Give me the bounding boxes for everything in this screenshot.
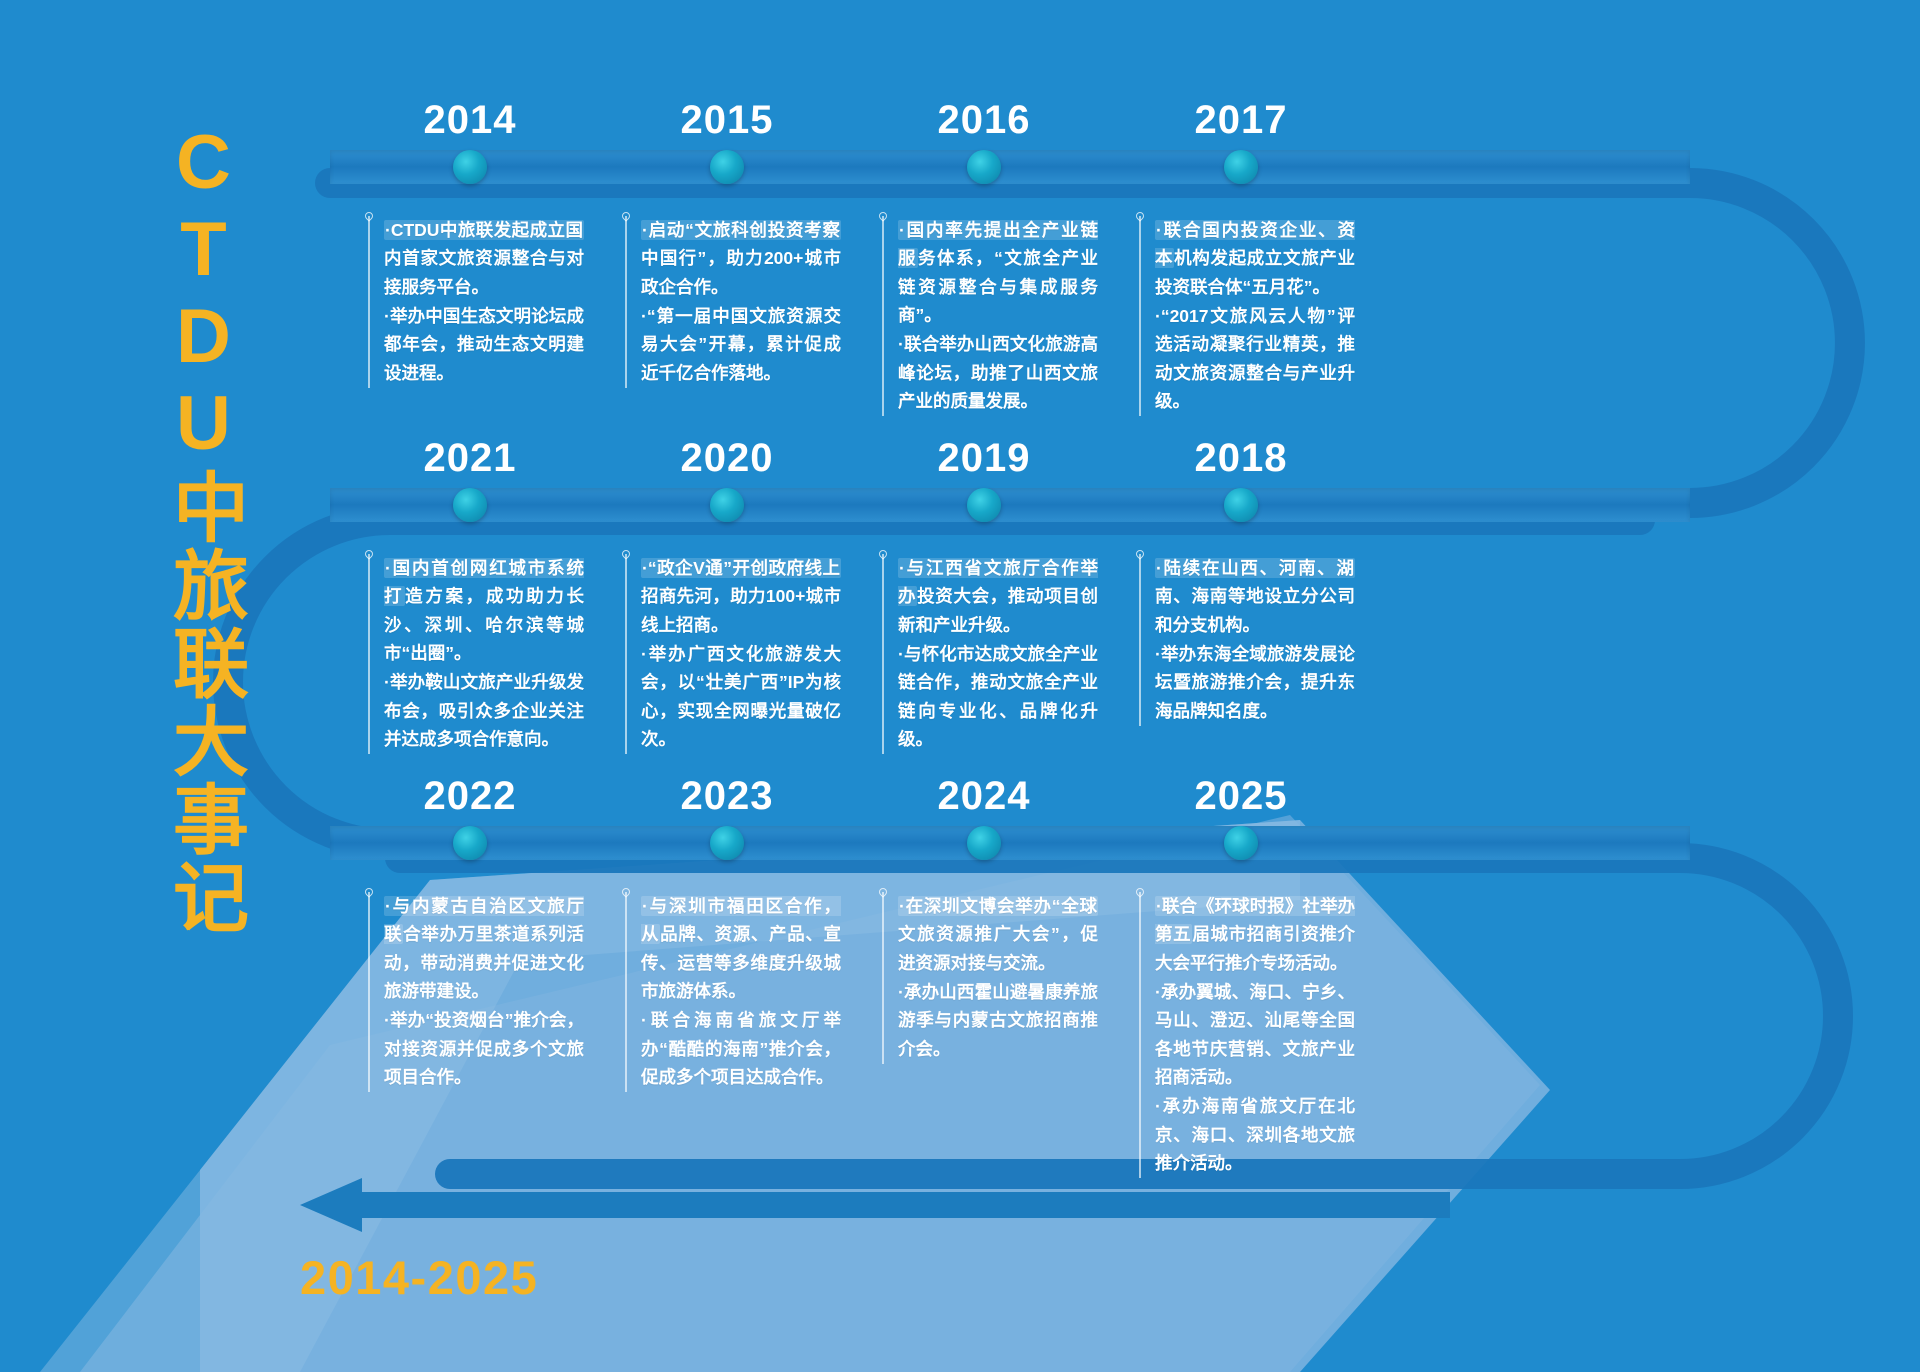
timeline-dot-icon[interactable] xyxy=(453,150,487,184)
bullet-item: ·承办山西霍山避暑康养旅游季与内蒙古文旅招商推介会。 xyxy=(898,978,1098,1063)
event-card: ·联合《环球时报》社举办第五届城市招商引资推介大会平行推介专场活动。 ·承办翼城… xyxy=(1139,892,1355,1178)
map-pin-icon xyxy=(621,212,631,225)
event-bullets: ·在深圳文博会举办“全球文旅资源推广大会”，促进资源对接与交流。 ·承办山西霍山… xyxy=(898,892,1098,1063)
bullet-item: ·国内率先提出全产业链服务体系，“文旅全产业链资源整合与集成服务商”。 xyxy=(898,216,1098,329)
event-bullets: ·与内蒙古自治区文旅厅联合举办万里茶道系列活动，带动消费并促进文化旅游带建设。 … xyxy=(384,892,584,1091)
map-pin-icon xyxy=(364,888,374,901)
bullet-item: ·与内蒙古自治区文旅厅联合举办万里茶道系列活动，带动消费并促进文化旅游带建设。 xyxy=(384,892,584,1005)
event-bullets: ·联合《环球时报》社举办第五届城市招商引资推介大会平行推介专场活动。 ·承办翼城… xyxy=(1155,892,1355,1177)
infographic-canvas: CTDU中旅联大事记 2014 ·CTDU中旅联发起成立国内首家文旅资源整合与对… xyxy=(0,0,1920,1372)
map-pin-icon xyxy=(1135,888,1145,901)
bullet-item: ·CTDU中旅联发起成立国内首家文旅资源整合与对接服务平台。 xyxy=(384,216,584,301)
bullet-item: ·举办中国生态文明论坛成都年会，推动生态文明建设进程。 xyxy=(384,302,584,387)
event-bullets: ·与江西省文旅厅合作举办投资大会，推动项目创新和产业升级。 ·与怀化市达成文旅全… xyxy=(898,554,1098,753)
map-pin-icon xyxy=(621,550,631,563)
bullet-item: ·举办鞍山文旅产业升级发布会，吸引众多企业关注并达成多项合作意向。 xyxy=(384,668,584,753)
event-bullets: ·启动“文旅科创投资考察中国行”，助力200+城市政企合作。 ·“第一届中国文旅… xyxy=(641,216,841,387)
year-label: 2019 xyxy=(894,436,1074,481)
timeline-dot-icon[interactable] xyxy=(1224,150,1258,184)
timeline-dot-icon[interactable] xyxy=(710,826,744,860)
year-label: 2021 xyxy=(380,436,560,481)
timeline-track xyxy=(330,150,1690,184)
bullet-item: ·与江西省文旅厅合作举办投资大会，推动项目创新和产业升级。 xyxy=(898,554,1098,639)
bullet-item: ·举办广西文化旅游发大会，以“壮美广西”IP为核心，实现全网曝光量破亿次。 xyxy=(641,640,841,753)
event-card: ·国内率先提出全产业链服务体系，“文旅全产业链资源整合与集成服务商”。 ·联合举… xyxy=(882,216,1098,416)
arrow-shaft xyxy=(360,1192,1450,1218)
event-card: ·在深圳文博会举办“全球文旅资源推广大会”，促进资源对接与交流。 ·承办山西霍山… xyxy=(882,892,1098,1064)
bullet-item: ·举办东海全域旅游发展论坛暨旅游推介会，提升东海品牌知名度。 xyxy=(1155,640,1355,725)
map-pin-icon xyxy=(878,212,888,225)
year-label: 2023 xyxy=(637,774,817,819)
bullet-item: ·联合海南省旅文厅举办“酷酷的海南”推介会，促成多个项目达成合作。 xyxy=(641,1006,841,1091)
timeline-dot-icon[interactable] xyxy=(967,150,1001,184)
bullet-item: ·在深圳文博会举办“全球文旅资源推广大会”，促进资源对接与交流。 xyxy=(898,892,1098,977)
arrow-head xyxy=(300,1178,362,1232)
bullet-item: ·与怀化市达成文旅全产业链合作，推动文旅全产业链向专业化、品牌化升级。 xyxy=(898,640,1098,753)
year-label: 2016 xyxy=(894,98,1074,143)
bullet-item: ·“2017文旅风云人物”评选活动凝聚行业精英，推动文旅资源整合与产业升级。 xyxy=(1155,302,1355,415)
year-label: 2014 xyxy=(380,98,560,143)
year-label: 2022 xyxy=(380,774,560,819)
bullet-item: ·联合举办山西文化旅游高峰论坛，助推了山西文旅产业的质量发展。 xyxy=(898,330,1098,415)
event-bullets: ·CTDU中旅联发起成立国内首家文旅资源整合与对接服务平台。 ·举办中国生态文明… xyxy=(384,216,584,387)
event-card: ·CTDU中旅联发起成立国内首家文旅资源整合与对接服务平台。 ·举办中国生态文明… xyxy=(368,216,584,388)
timeline-dot-icon[interactable] xyxy=(1224,488,1258,522)
timeline-dot-icon[interactable] xyxy=(967,826,1001,860)
event-bullets: ·陆续在山西、河南、湖南、海南等地设立分公司和分支机构。 ·举办东海全域旅游发展… xyxy=(1155,554,1355,725)
year-label: 2017 xyxy=(1151,98,1331,143)
year-label: 2015 xyxy=(637,98,817,143)
bullet-item: ·承办翼城、海口、宁乡、马山、澄迈、汕尾等全国各地节庆营销、文旅产业招商活动。 xyxy=(1155,978,1355,1091)
event-bullets: ·国内首创网红城市系统打造方案，成功助力长沙、深圳、哈尔滨等城市“出圈”。 ·举… xyxy=(384,554,584,753)
map-pin-icon xyxy=(878,888,888,901)
bullet-item: ·国内首创网红城市系统打造方案，成功助力长沙、深圳、哈尔滨等城市“出圈”。 xyxy=(384,554,584,667)
timeline-dot-icon[interactable] xyxy=(453,826,487,860)
event-card: ·与内蒙古自治区文旅厅联合举办万里茶道系列活动，带动消费并促进文化旅游带建设。 … xyxy=(368,892,584,1092)
map-pin-icon xyxy=(1135,550,1145,563)
pipe-row3-visible xyxy=(400,858,1838,1174)
timeline-dot-icon[interactable] xyxy=(967,488,1001,522)
timeline-track xyxy=(330,826,1690,860)
map-pin-icon xyxy=(878,550,888,563)
timeline-track xyxy=(330,488,1690,522)
event-card: ·“政企V通”开创政府线上招商先河，助力100+城市线上招商。 ·举办广西文化旅… xyxy=(625,554,841,754)
event-bullets: ·国内率先提出全产业链服务体系，“文旅全产业链资源整合与集成服务商”。 ·联合举… xyxy=(898,216,1098,415)
year-label: 2020 xyxy=(637,436,817,481)
bullet-item: ·联合国内投资企业、资本机构发起成立文旅产业投资联合体“五月花”。 xyxy=(1155,216,1355,301)
timeline-dot-icon[interactable] xyxy=(453,488,487,522)
event-bullets: ·与深圳市福田区合作，从品牌、资源、产品、宣传、运营等多维度升级城市旅游体系。 … xyxy=(641,892,841,1091)
year-label: 2025 xyxy=(1151,774,1331,819)
event-card: ·与江西省文旅厅合作举办投资大会，推动项目创新和产业升级。 ·与怀化市达成文旅全… xyxy=(882,554,1098,754)
map-pin-icon xyxy=(621,888,631,901)
timeline-dot-icon[interactable] xyxy=(1224,826,1258,860)
map-pin-icon xyxy=(1135,212,1145,225)
page-title-text: CTDU中旅联大事记 xyxy=(161,120,246,936)
year-range-label: 2014-2025 xyxy=(300,1250,538,1305)
bullet-item: ·“政企V通”开创政府线上招商先河，助力100+城市线上招商。 xyxy=(641,554,841,639)
event-bullets: ·“政企V通”开创政府线上招商先河，助力100+城市线上招商。 ·举办广西文化旅… xyxy=(641,554,841,753)
page-title: CTDU中旅联大事记 xyxy=(150,120,242,936)
map-pin-icon xyxy=(364,550,374,563)
event-bullets: ·联合国内投资企业、资本机构发起成立文旅产业投资联合体“五月花”。 ·“2017… xyxy=(1155,216,1355,415)
bullet-item: ·与深圳市福田区合作，从品牌、资源、产品、宣传、运营等多维度升级城市旅游体系。 xyxy=(641,892,841,1005)
event-card: ·与深圳市福田区合作，从品牌、资源、产品、宣传、运营等多维度升级城市旅游体系。 … xyxy=(625,892,841,1092)
year-label: 2024 xyxy=(894,774,1074,819)
bullet-item: ·承办海南省旅文厅在北京、海口、深圳各地文旅推介活动。 xyxy=(1155,1092,1355,1177)
event-card: ·联合国内投资企业、资本机构发起成立文旅产业投资联合体“五月花”。 ·“2017… xyxy=(1139,216,1355,416)
timeline-dot-icon[interactable] xyxy=(710,150,744,184)
map-pin-icon xyxy=(364,212,374,225)
event-card: ·国内首创网红城市系统打造方案，成功助力长沙、深圳、哈尔滨等城市“出圈”。 ·举… xyxy=(368,554,584,754)
bullet-item: ·陆续在山西、河南、湖南、海南等地设立分公司和分支机构。 xyxy=(1155,554,1355,639)
bullet-item: ·举办“投资烟台”推介会，对接资源并促成多个文旅项目合作。 xyxy=(384,1006,584,1091)
bullet-item: ·联合《环球时报》社举办第五届城市招商引资推介大会平行推介专场活动。 xyxy=(1155,892,1355,977)
event-card: ·启动“文旅科创投资考察中国行”，助力200+城市政企合作。 ·“第一届中国文旅… xyxy=(625,216,841,388)
timeline-dot-icon[interactable] xyxy=(710,488,744,522)
bullet-item: ·“第一届中国文旅资源交易大会”开幕，累计促成近千亿合作落地。 xyxy=(641,302,841,387)
year-label: 2018 xyxy=(1151,436,1331,481)
bullet-item: ·启动“文旅科创投资考察中国行”，助力200+城市政企合作。 xyxy=(641,216,841,301)
event-card: ·陆续在山西、河南、湖南、海南等地设立分公司和分支机构。 ·举办东海全域旅游发展… xyxy=(1139,554,1355,726)
